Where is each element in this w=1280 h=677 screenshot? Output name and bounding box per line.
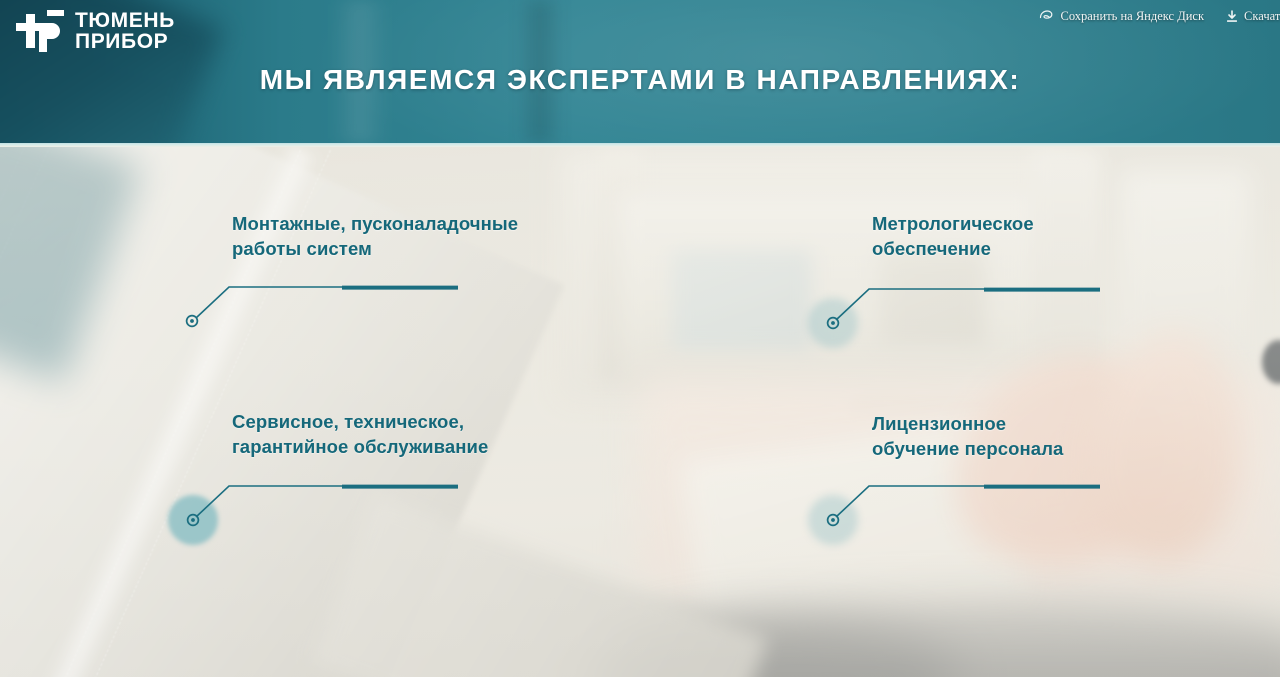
download-label: Скачать [1244, 9, 1280, 24]
logo-wordmark: ТЮМЕНЬ ПРИБОР [75, 10, 175, 53]
logo-line-1: ТЮМЕНЬ [75, 10, 175, 31]
save-to-yandex-disk-label: Сохранить на Яндекс Диск [1060, 9, 1204, 24]
logo-monogram-tp-icon [14, 6, 66, 56]
download-icon [1226, 10, 1238, 23]
callout-licensed-staff-training: Лицензионное обучение персонала [0, 0, 1280, 677]
yandex-disk-clip-icon [1039, 10, 1054, 23]
player-overlay-actions: Сохранить на Яндекс Диск Скачать [1039, 9, 1280, 24]
download-button[interactable]: Скачать [1226, 9, 1280, 24]
slide-stage: ТЮМЕНЬ ПРИБОР МЫ ЯВЛЯЕМСЯ ЭКСПЕРТАМИ В Н… [0, 0, 1280, 677]
save-to-yandex-disk-button[interactable]: Сохранить на Яндекс Диск [1039, 9, 1204, 24]
callout-4-ring-dot-marker[interactable] [826, 513, 840, 527]
company-logo: ТЮМЕНЬ ПРИБОР [14, 6, 175, 56]
logo-line-2: ПРИБОР [75, 31, 175, 52]
slide-title: МЫ ЯВЛЯЕМСЯ ЭКСПЕРТАМИ В НАПРАВЛЕНИЯХ: [0, 64, 1280, 96]
